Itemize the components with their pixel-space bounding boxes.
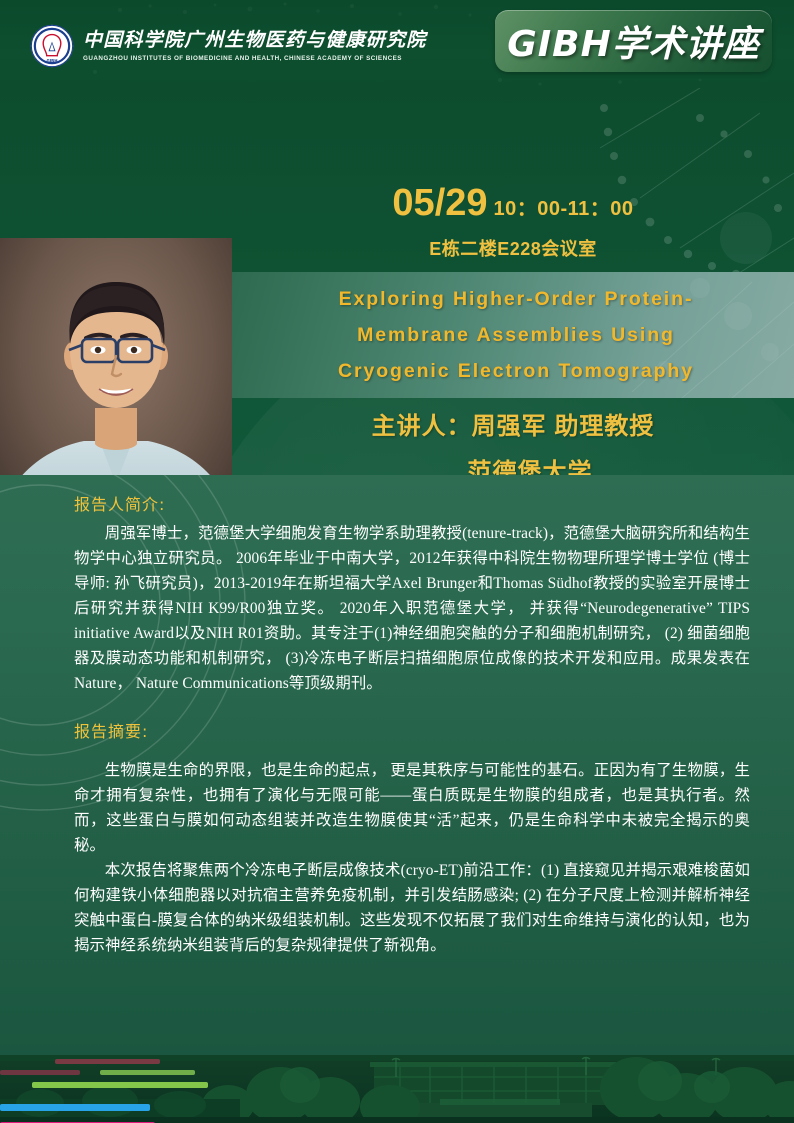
bar-green-main [32,1082,208,1088]
speaker-portrait-image [0,238,232,475]
speaker-portrait [0,238,232,475]
talk-title-line-3: Cryogenic Electron Tomography [254,353,778,389]
event-date: 05/29 [392,184,487,222]
poster-upper-section: 05/29 10：00-11：00 E栋二楼E228会议室 Exploring … [0,88,794,475]
lecture-series-badge-label: GIBH学术讲座 [507,15,760,67]
seminar-poster: GIBH 中国科学院广州生物医药与健康研究院 GUANGZHOU INSTITU… [0,0,794,1123]
bar-dark-red [55,1059,160,1064]
abstract-heading: 报告摘要: [74,718,750,742]
talk-title-band: Exploring Higher-Order Protein- Membrane… [232,272,794,398]
abstract-paragraph-2: 本次报告将聚焦两个冷冻电子断层成像技术(cryo-ET)前沿工作：(1) 直接窥… [74,858,750,958]
speaker-affiliation-line: 范德堡大学 [232,450,794,475]
poster-header: GIBH 中国科学院广州生物医药与健康研究院 GUANGZHOU INSTITU… [0,0,794,88]
bio-paragraph: 周强军博士，范德堡大学细胞发育生物学系助理教授(tenure-track)，范德… [74,521,750,696]
institute-logo-block: GIBH 中国科学院广州生物医药与健康研究院 GUANGZHOU INSTITU… [30,24,426,68]
footer-color-bars [0,1050,320,1123]
gibh-logo-icon: GIBH [30,24,74,68]
speaker-name-line: 主讲人：周强军 助理教授 [232,404,794,450]
talk-title: Exploring Higher-Order Protein- Membrane… [232,272,794,389]
talk-title-line-1: Exploring Higher-Order Protein- [254,281,778,317]
institute-name-cn: 中国科学院广州生物医药与健康研究院 [83,30,426,52]
event-venue: E栋二楼E228会议室 [232,235,794,261]
talk-title-line-2: Membrane Assemblies Using [254,317,778,353]
event-datetime: 05/29 10：00-11：00 [232,184,794,222]
speaker-host-block: 主讲人：周强军 助理教授 范德堡大学 主持人：孙 飞 研究员 [232,404,794,475]
event-time: 10：00-11：00 [494,192,634,221]
poster-content-section: 报告人简介: 周强军博士，范德堡大学细胞发育生物学系助理教授(tenure-tr… [0,475,794,1055]
bio-heading: 报告人简介: [74,491,750,515]
institute-name-en: GUANGZHOU INSTITUTES OF BIOMEDICINE AND … [83,55,426,62]
svg-text:GIBH: GIBH [46,59,57,64]
bar-blue [0,1104,150,1111]
bar-green-top [100,1070,195,1075]
bar-dark-red-2 [0,1070,80,1075]
lecture-series-badge: GIBH学术讲座 [495,10,772,72]
abstract-paragraph-1: 生物膜是生命的界限，也是生命的起点， 更是其秩序与可能性的基石。正因为有了生物膜… [74,758,750,858]
